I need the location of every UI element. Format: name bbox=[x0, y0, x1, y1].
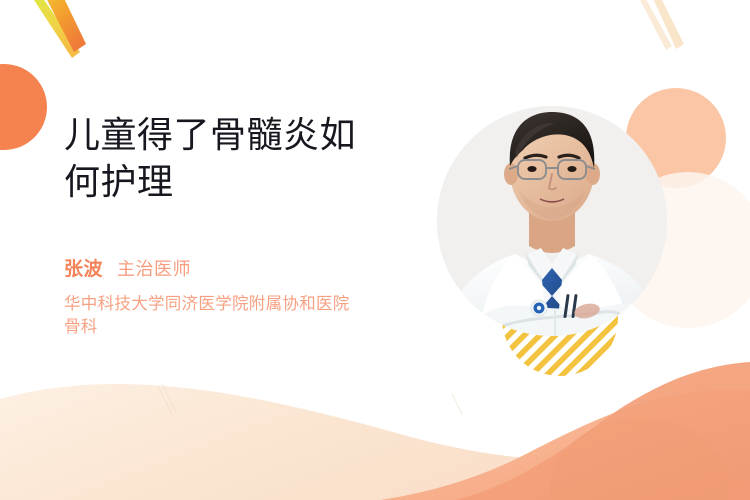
page-title: 儿童得了骨髓炎如 何护理 bbox=[64, 112, 454, 206]
top-right-stripe-group bbox=[637, 0, 684, 50]
text-block: 儿童得了骨髓炎如 何护理 张波 主治医师 华中科技大学同济医学院附属协和医院 骨… bbox=[64, 112, 454, 339]
left-orange-circle bbox=[0, 64, 47, 150]
doctor-portrait bbox=[437, 96, 667, 346]
doctor-identity-line: 张波 主治医师 bbox=[64, 254, 454, 281]
doctor-affiliation: 华中科技大学同济医学院附属协和医院 骨科 bbox=[64, 293, 464, 340]
doctor-info-card: 儿童得了骨髓炎如 何护理 张波 主治医师 华中科技大学同济医学院附属协和医院 骨… bbox=[0, 0, 750, 500]
portrait-content bbox=[437, 96, 667, 346]
doctor-professional-title: 主治医师 bbox=[117, 255, 191, 281]
doctor-name: 张波 bbox=[64, 254, 103, 281]
top-left-stripe-group bbox=[30, 0, 86, 58]
